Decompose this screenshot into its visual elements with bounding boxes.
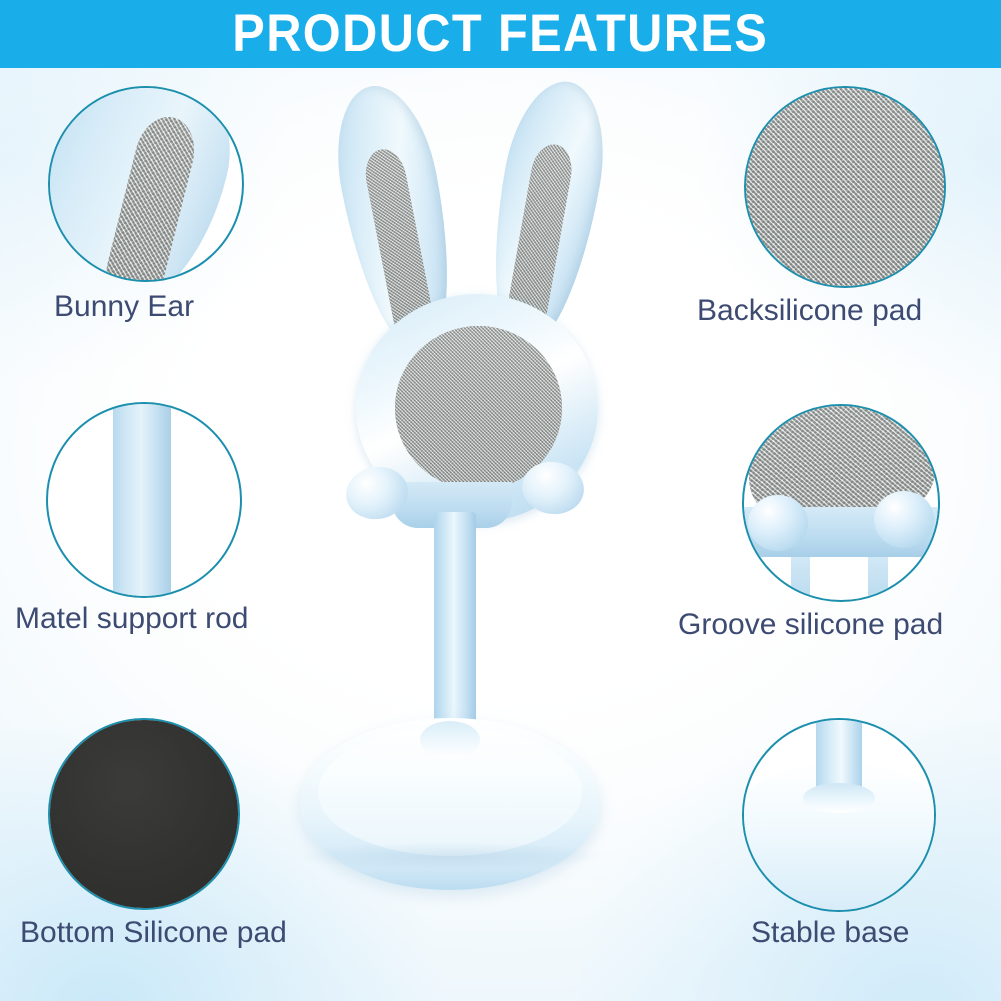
callout-bottom-silicone-pad-image	[48, 718, 240, 910]
callout-bunny-ear-label: Bunny Ear	[54, 290, 194, 323]
support-rod-closeup	[113, 402, 171, 598]
groove-leg-left	[791, 557, 810, 600]
callout-matel-support-rod-label: Matel support rod	[15, 602, 248, 635]
callout-bunny-ear-image	[48, 86, 244, 282]
callout-stable-base: Stable base	[742, 718, 936, 912]
groove-ball-right-closeup	[874, 491, 934, 547]
callout-matel-support-rod: Matel support rod	[46, 402, 242, 598]
header-banner: PRODUCT FEATURES	[0, 0, 1001, 68]
callout-matel-support-rod-image	[46, 402, 242, 598]
callout-bottom-silicone-pad: Bottom Silicone pad	[48, 718, 240, 910]
callout-stable-base-label: Stable base	[751, 916, 909, 949]
bottom-silicone-pad-surface	[50, 720, 238, 908]
callout-groove-silicone-pad: Groove silicone pad	[742, 404, 940, 602]
callout-groove-silicone-pad-image	[742, 404, 940, 602]
product-shadow	[296, 842, 606, 870]
callout-backsilicone-pad: Backsilicone pad	[744, 86, 946, 288]
callout-groove-silicone-pad-label: Groove silicone pad	[678, 608, 943, 641]
callout-bottom-silicone-pad-label: Bottom Silicone pad	[20, 916, 287, 949]
callout-stable-base-image	[742, 718, 936, 912]
base-rod-collar	[420, 721, 480, 759]
callout-backsilicone-pad-image	[744, 86, 946, 288]
product-image	[300, 72, 700, 902]
product-features-infographic: PRODUCT FEATURES	[0, 0, 1001, 1001]
callout-backsilicone-pad-label: Backsilicone pad	[697, 294, 922, 327]
stable-base-closeup-collar	[803, 783, 875, 813]
callout-bunny-ear: Bunny Ear	[48, 86, 244, 282]
groove-leg-right	[868, 557, 887, 600]
page-title: PRODUCT FEATURES	[233, 7, 769, 60]
mesh-texture	[746, 88, 944, 286]
